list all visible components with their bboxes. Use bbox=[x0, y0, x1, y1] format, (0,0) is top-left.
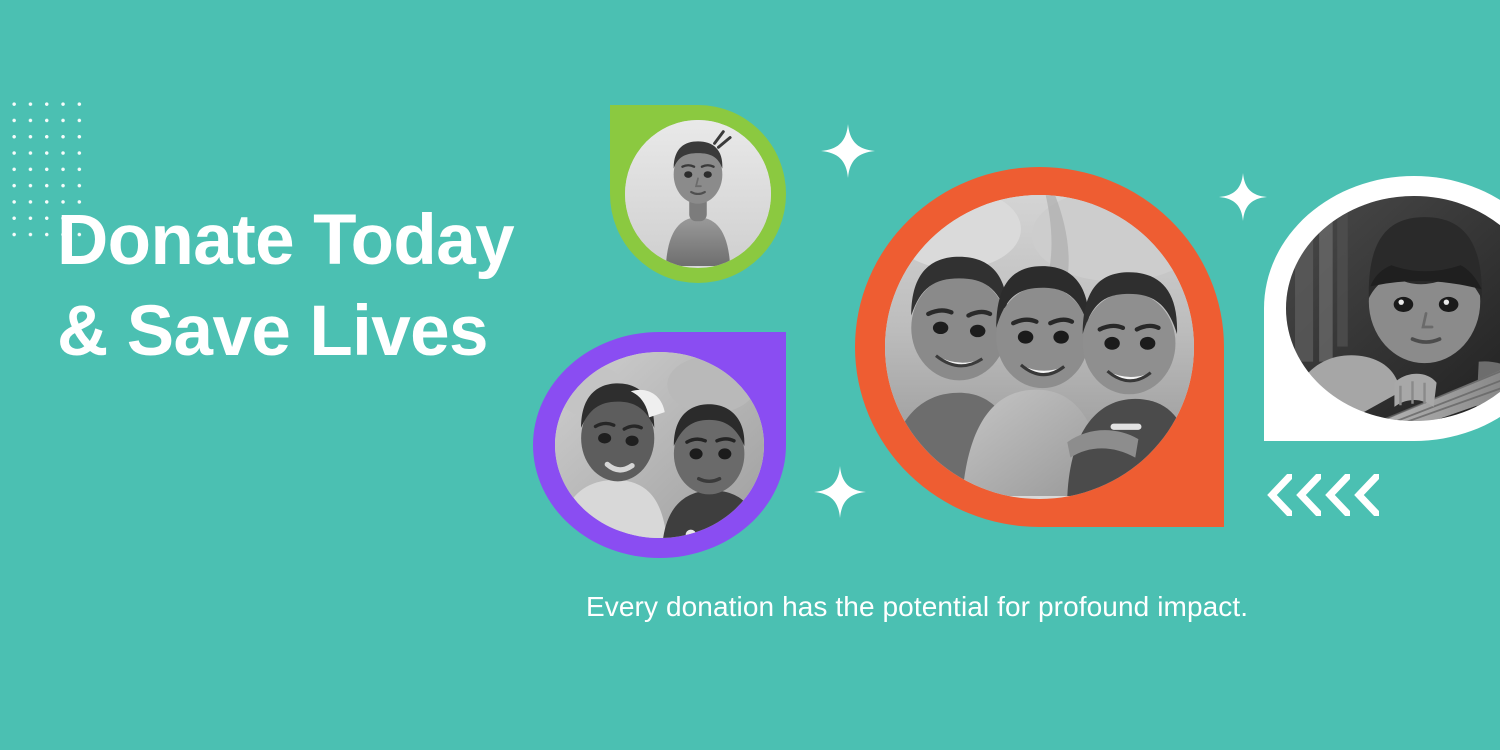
avatar bbox=[885, 195, 1194, 499]
avatar bbox=[625, 120, 771, 268]
photo-card-orange bbox=[855, 167, 1224, 527]
chevron-group[interactable] bbox=[1266, 474, 1379, 516]
chevron-left-icon[interactable] bbox=[1324, 474, 1350, 516]
chevron-left-icon[interactable] bbox=[1266, 474, 1292, 516]
photo-card-green bbox=[610, 105, 786, 283]
photo-card-white bbox=[1264, 176, 1500, 441]
portrait-three-boys-image bbox=[885, 195, 1194, 496]
photo-card-purple bbox=[533, 332, 786, 558]
chevron-left-icon[interactable] bbox=[1295, 474, 1321, 516]
portrait-child-image bbox=[625, 120, 771, 266]
avatar bbox=[1286, 196, 1500, 421]
portrait-boy-at-plank-image bbox=[1286, 196, 1500, 421]
subheadline-text: Every donation has the potential for pro… bbox=[586, 589, 1248, 625]
portrait-two-girls-image bbox=[555, 352, 764, 538]
chevron-left-icon[interactable] bbox=[1353, 474, 1379, 516]
sparkle-icon bbox=[1219, 173, 1267, 221]
donation-banner: Donate Today & Save Lives Every donation… bbox=[0, 0, 1500, 750]
avatar bbox=[555, 352, 764, 538]
